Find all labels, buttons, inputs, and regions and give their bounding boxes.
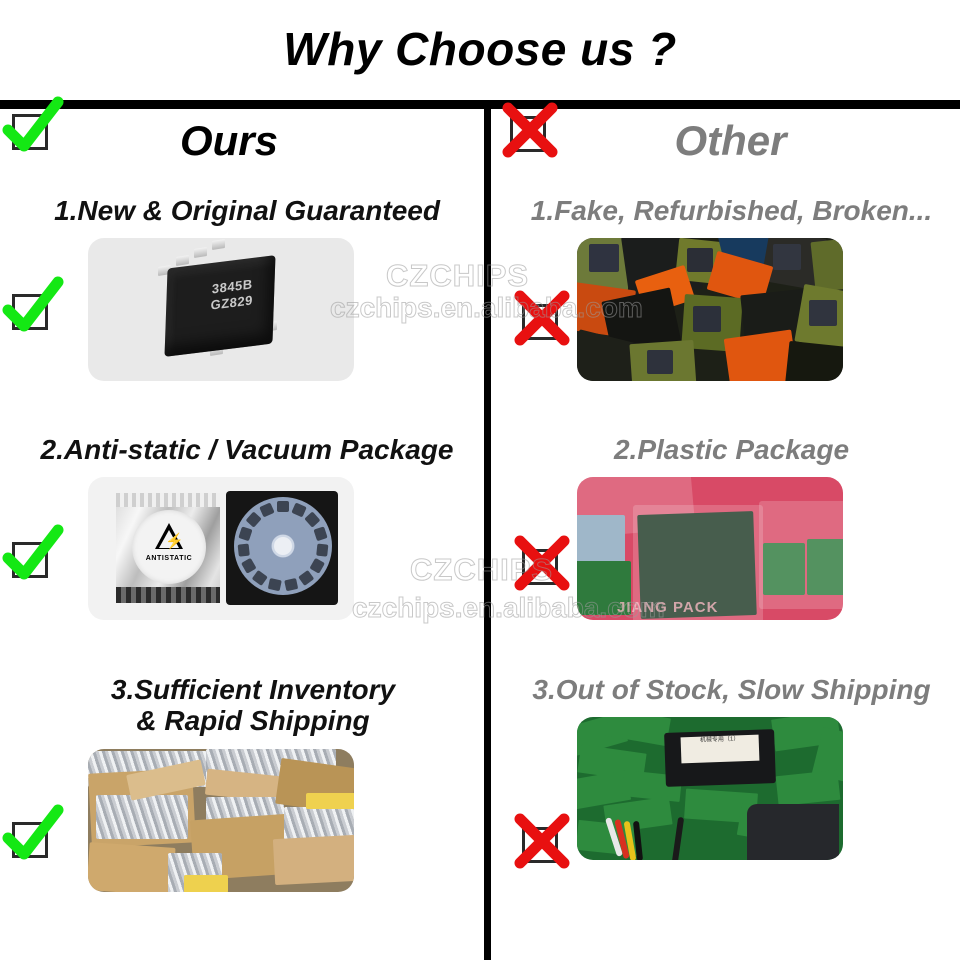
chip-photo: 3845B GZ829 [88, 238, 354, 381]
ours-row-2: 2.Anti-static / Vacuum Package ⚡ ANTISTA… [0, 434, 484, 620]
package-watermark: JIANG PACK [617, 599, 718, 616]
cross-icon-heading [506, 112, 550, 156]
cross-icon-row-1 [518, 300, 562, 344]
comparison-infographic: Why Choose us ? Ours 1.New & Original Gu… [0, 0, 960, 960]
antistatic-package-photo: ⚡ ANTISTATIC [88, 477, 354, 620]
check-icon-row-3 [8, 818, 52, 862]
other-row-3-label: 3.Out of Stock, Slow Shipping [491, 674, 960, 705]
column-heading-ours: Ours [0, 117, 484, 165]
other-row-2-label: 2.Plastic Package [491, 434, 960, 465]
ours-row-1-label: 1.New & Original Guaranteed [0, 195, 484, 226]
column-ours: Ours 1.New & Original Guaranteed 3845B G… [0, 109, 484, 960]
antistatic-label: ANTISTATIC [132, 555, 206, 562]
ours-row-3-label: 3.Sufficient Inventory & Rapid Shipping [0, 674, 484, 737]
page-title: Why Choose us ? [0, 22, 960, 76]
check-icon-heading [8, 110, 52, 154]
component-reel [234, 497, 332, 595]
cross-icon-row-2 [518, 545, 562, 589]
column-heading-other: Other [491, 117, 960, 165]
ours-row-2-label: 2.Anti-static / Vacuum Package [0, 434, 484, 465]
check-icon-row-1 [8, 290, 52, 334]
pcb-label-text: 机械专用（1） [681, 735, 760, 764]
check-icon-row-2 [8, 538, 52, 582]
header-divider [0, 100, 960, 109]
ours-row-3: 3.Sufficient Inventory & Rapid Shipping [0, 674, 484, 892]
scrap-chips-photo [577, 238, 843, 381]
pcb-scrap-photo: 机械专用（1） [577, 717, 843, 860]
plastic-package-photo: JIANG PACK [577, 477, 843, 620]
column-divider [484, 104, 491, 960]
ours-row-1: 1.New & Original Guaranteed 3845B GZ829 [0, 195, 484, 381]
inventory-boxes-photo [88, 749, 354, 892]
lightning-bolt-icon: ⚡ [165, 534, 184, 549]
cross-icon-row-3 [518, 823, 562, 867]
other-row-1-label: 1.Fake, Refurbished, Broken... [491, 195, 960, 226]
other-row-1: 1.Fake, Refurbished, Broken... [491, 195, 960, 381]
